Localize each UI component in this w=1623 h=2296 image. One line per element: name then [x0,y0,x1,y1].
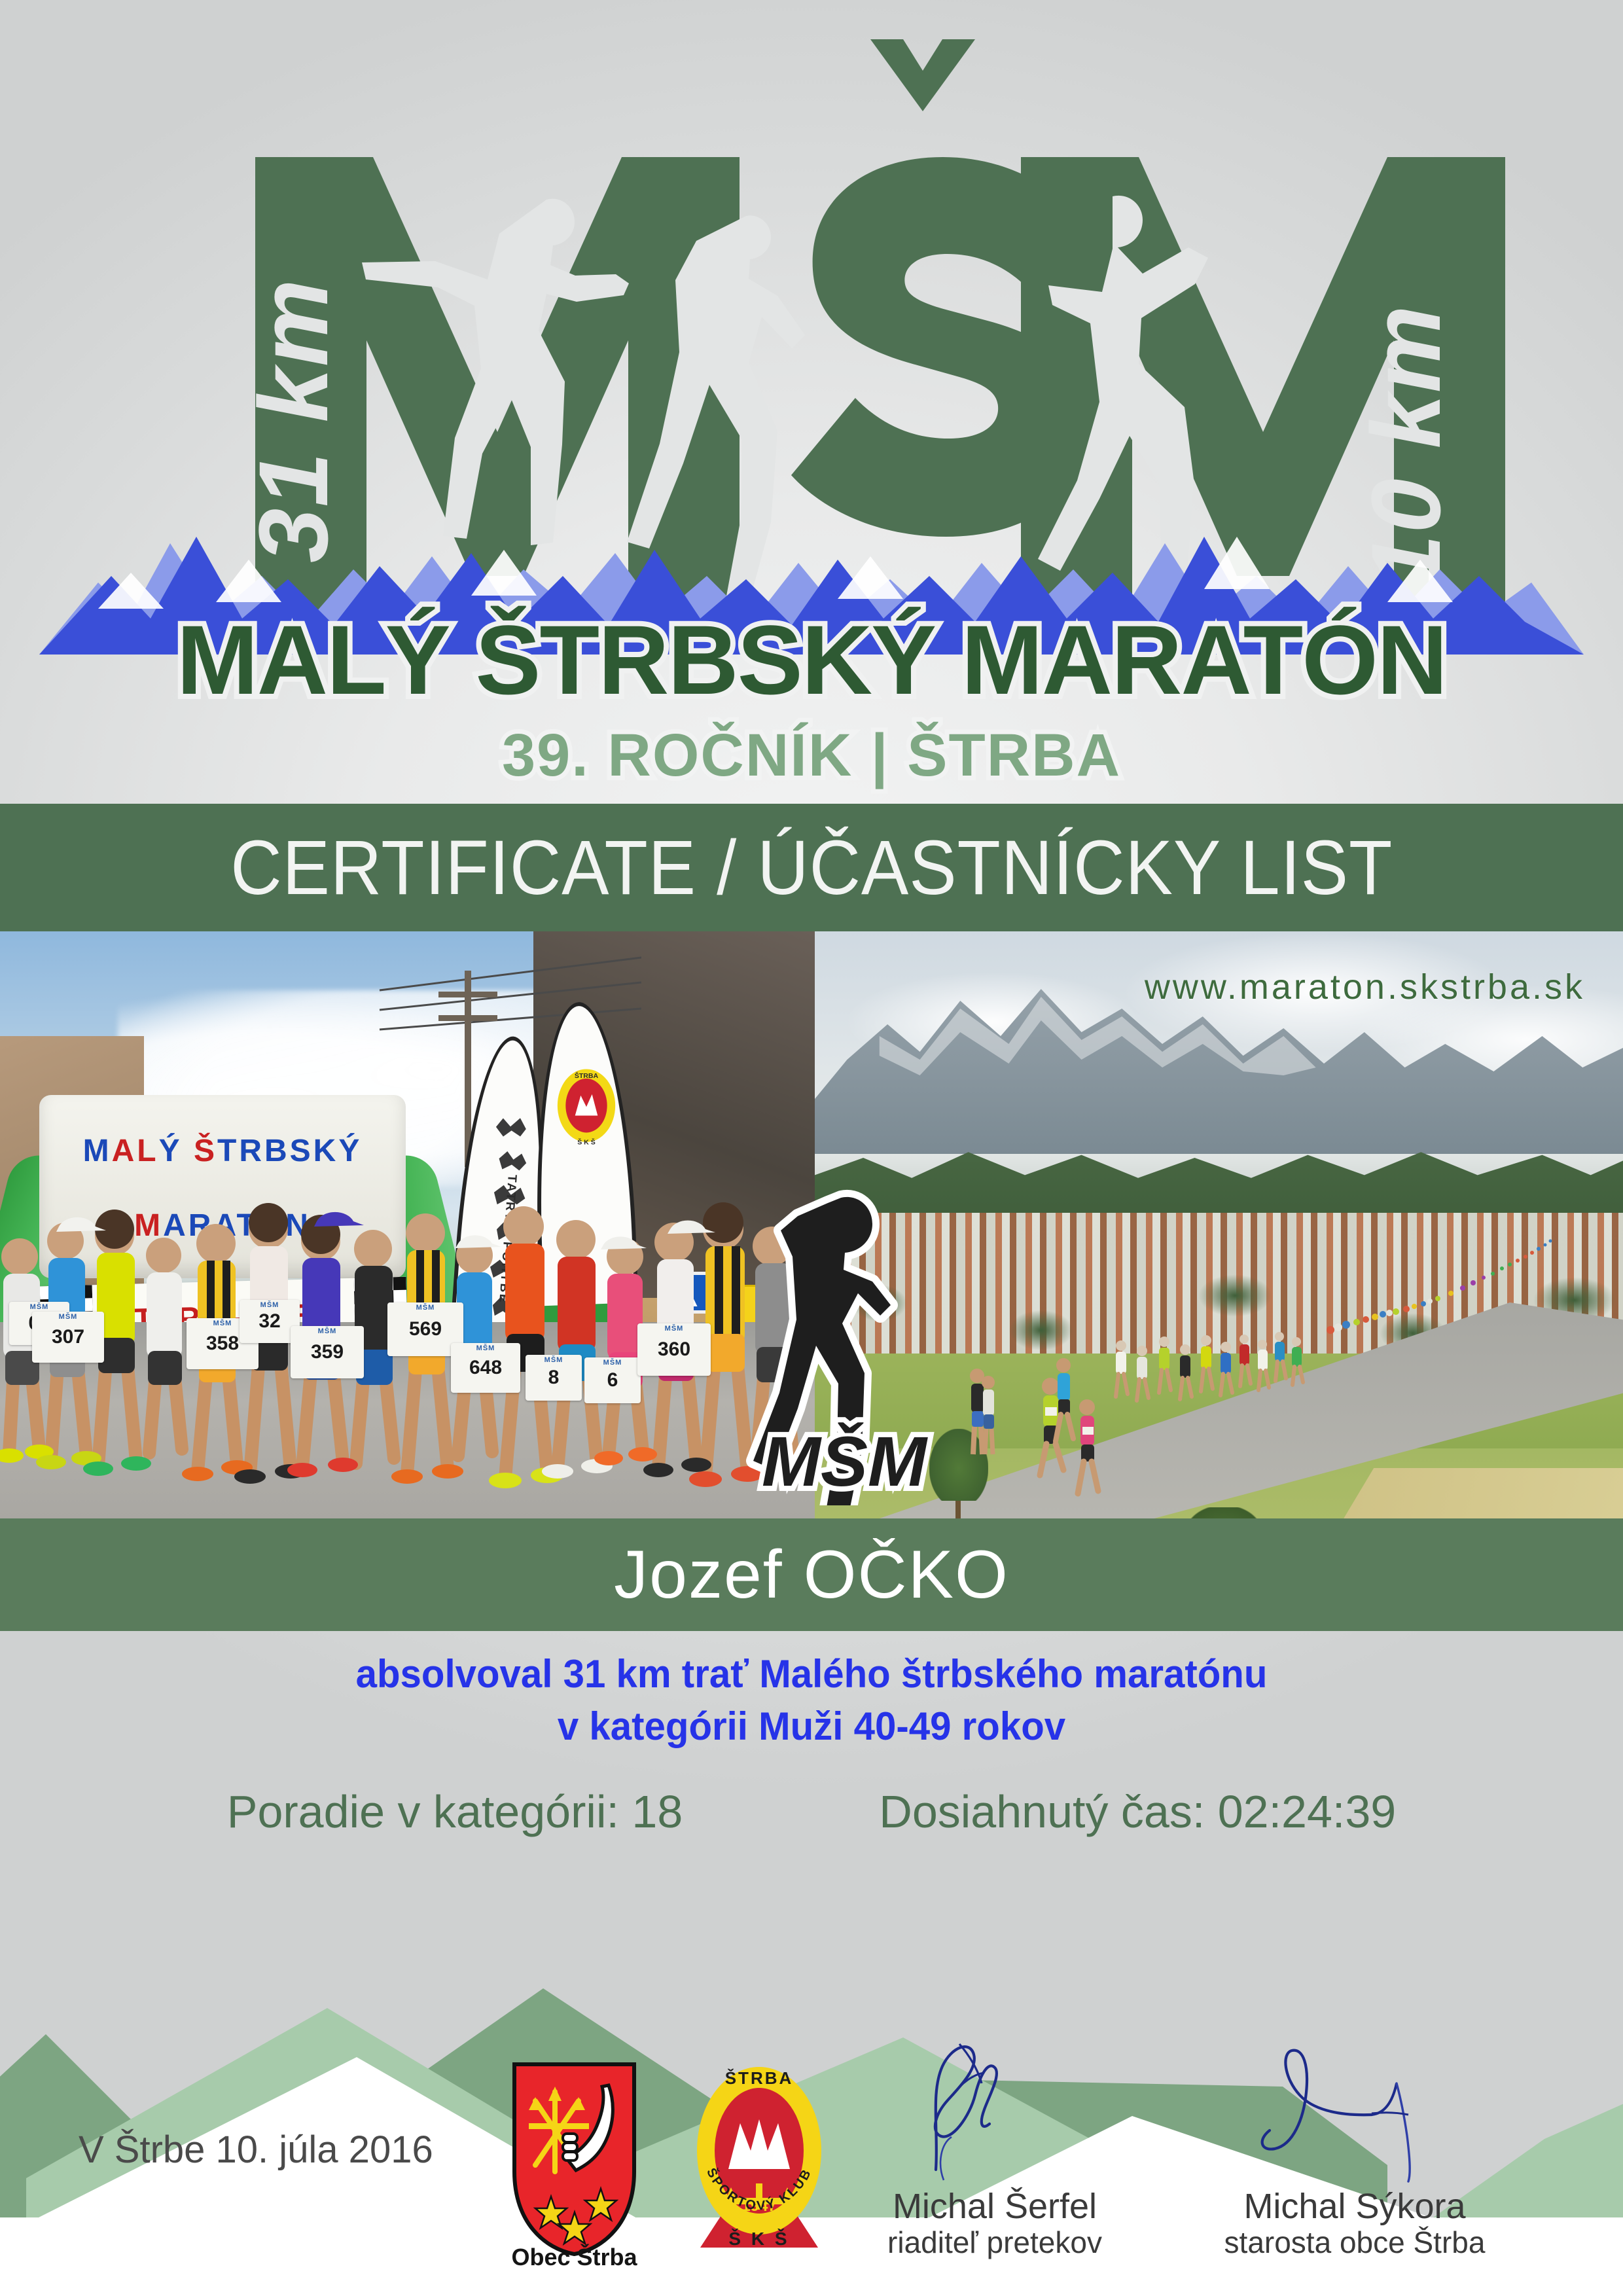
coat-of-arms-strba [510,2060,638,2257]
logo-caron [870,39,975,111]
finish-time: Dosiahnutý čas: 02:24:39 [879,1785,1396,1838]
description-line-2: v kategórii Muži 40-49 rokov [24,1700,1599,1753]
signature-mark [1243,2032,1466,2183]
certificate-title: CERTIFICATE / ÚČASTNÍCKY LIST [230,823,1393,912]
signature-name: Michal Šerfel [851,2187,1139,2226]
logo-graphic: 31 km 10 km [0,0,1623,805]
category-rank: Poradie v kategórii: 18 [227,1785,683,1838]
logo-title: MALÝ ŠTRBSKÝ MARATÓN [177,605,1446,715]
certificate-page: 31 km 10 km [0,0,1623,2296]
runner-bib: MŠM360 [637,1323,711,1376]
signature-block-director: Michal Šerfel riaditeľ pretekov [851,2187,1139,2260]
participant-name: Jozef OČKO [614,1536,1009,1614]
runner-bib: MŠM359 [291,1326,364,1378]
coat-of-arms-label: Obec Štrba [497,2244,651,2271]
results-row: Poradie v kategórii: 18 Dosiahnutý čas: … [0,1785,1623,1838]
svg-text:Š K Š: Š K Š [577,1138,596,1147]
signature-role: riaditeľ pretekov [851,2226,1139,2260]
photo-start-line: MALÝ ŠTRBSKÝ MARATÓN ŠTART - CIEĽ [0,931,815,1518]
issue-date: V Štrbe 10. júla 2016 [79,2128,433,2172]
description-line-1: absolvoval 31 km trať Malého štrbského m… [24,1648,1599,1700]
certificate-title-band: CERTIFICATE / ÚČASTNÍCKY LIST [0,804,1623,931]
svg-text:ŠTRBA: ŠTRBA [575,1071,599,1080]
logo-distance-right: 10 km [1351,304,1461,589]
certificate-footer: V Štrbe 10. júla 2016 [0,2015,1623,2296]
logo-subtitle: 39. ROČNÍK | ŠTRBA [502,721,1121,789]
runner-bib: MŠM8 [526,1355,582,1401]
signature-role: starosta obce Štrba [1198,2226,1512,2260]
signature-mark [897,2032,1093,2183]
signature-name: Michal Sýkora [1198,2187,1512,2226]
sks-top-text: ŠTRBA [725,2068,794,2088]
msm-emblem: MŠM [743,1178,952,1505]
runner-bib: MŠM307 [32,1312,104,1363]
achievement-description: absolvoval 31 km trať Malého štrbského m… [0,1648,1623,1753]
signature-block-mayor: Michal Sýkora starosta obce Štrba [1198,2187,1512,2260]
msm-emblem-text: MŠM [762,1422,928,1501]
participant-name-band: Jozef OČKO [0,1518,1623,1631]
runner-bib: MŠM648 [451,1343,520,1393]
arch-text-line1: MALÝ ŠTRBSKÝ [39,1133,406,1169]
website-url[interactable]: www.maraton.skstrba.sk [1145,967,1585,1007]
runner-bib: MŠM6 [584,1357,641,1403]
sks-club-logo: ŠTRBA 1947 Š K Š ŠPORTOVÝ KLUB [690,2059,828,2255]
flag-sks-badge: ŠTRBA Š K Š [555,1067,618,1149]
logo-distance-left: 31 km [238,278,348,563]
runner-crowd: MŠM06 MŠM307 MŠM358 MŠM32 MŠM359 MŠM569 … [0,1178,815,1518]
event-logo: 31 km 10 km [0,0,1623,805]
sks-initials: Š K Š [728,2228,789,2249]
